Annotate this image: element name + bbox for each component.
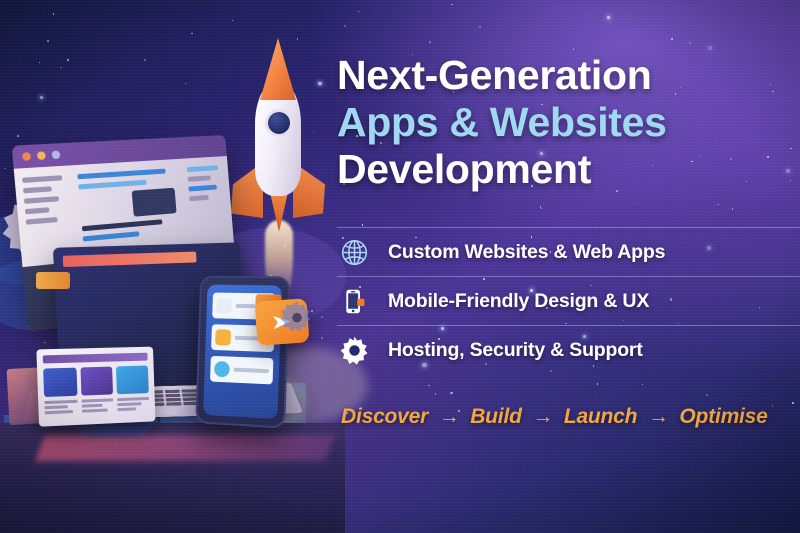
star-dot: [39, 62, 40, 63]
promo-banner: Next-Generation Apps & Websites Developm…: [0, 0, 800, 533]
star-dot: [185, 83, 186, 84]
star-dot: [4, 168, 5, 169]
browser-dot-blue: [51, 150, 60, 159]
feature-item-hosting-security[interactable]: Hosting, Security & Support: [337, 325, 800, 374]
feature-label: Mobile-Friendly Design & UX: [388, 290, 649, 313]
process-steps: Discover → Build → Launch → Optimise: [341, 405, 768, 429]
card-panels: [43, 365, 149, 397]
smartphone: [195, 276, 290, 429]
star-dot: [17, 135, 19, 137]
headline-line-1: Next-Generation: [337, 52, 800, 99]
globe-icon: [337, 238, 371, 267]
process-step-launch: Launch: [564, 405, 637, 428]
star-dot: [297, 38, 298, 39]
desk-surface: [0, 423, 345, 533]
orange-tag: [36, 272, 70, 289]
tablet-card: [36, 347, 155, 427]
feature-item-mobile-friendly[interactable]: Mobile-Friendly Design & UX: [337, 276, 800, 325]
star-dot: [321, 337, 323, 339]
mobile-phone-icon: [337, 287, 371, 316]
process-step-optimise: Optimise: [679, 405, 767, 428]
gear-icon: [280, 300, 314, 334]
keyboard-key: [182, 389, 198, 392]
star-dot: [144, 59, 145, 60]
star-dot: [47, 40, 49, 42]
code-header-bar: [63, 252, 197, 268]
banner-content: Next-Generation Apps & Websites Developm…: [337, 0, 800, 533]
feature-item-custom-websites[interactable]: Custom Websites & Web Apps: [337, 227, 800, 276]
arrow-icon: →: [643, 405, 674, 428]
arrow-icon: →: [527, 405, 558, 428]
feature-list: Custom Websites & Web Apps Mobile-Friend…: [337, 227, 800, 374]
browser-dot-yellow: [37, 151, 46, 160]
process-step-build: Build: [470, 405, 522, 428]
keyboard-key: [165, 398, 181, 402]
feature-label: Hosting, Security & Support: [388, 339, 643, 362]
keyboard-key: [166, 402, 182, 406]
rocket-icon: [225, 42, 335, 272]
star-dot: [191, 33, 193, 35]
arrow-icon: →: [434, 405, 465, 428]
browser-dot-red: [22, 152, 31, 161]
star-dot: [321, 316, 323, 318]
star-dot: [60, 67, 61, 68]
star-dot: [40, 96, 43, 99]
star-dot: [232, 20, 233, 21]
page-title: Next-Generation Apps & Websites Developm…: [337, 52, 800, 193]
keyboard-key: [165, 394, 181, 398]
feature-label: Custom Websites & Web Apps: [388, 241, 665, 264]
desk-glow: [35, 435, 334, 461]
process-step-discover: Discover: [341, 405, 428, 428]
keyboard-key: [165, 390, 181, 393]
star-dot: [44, 342, 45, 343]
rocket-nose-cone: [260, 38, 296, 100]
gear-icon: [337, 336, 371, 365]
headline-line-3: Development: [337, 146, 800, 193]
app-card: [210, 356, 273, 385]
rocket-porthole: [268, 112, 290, 134]
card-text-lines: [44, 397, 149, 414]
star-dot: [53, 13, 55, 15]
card-header: [43, 353, 148, 364]
headline-line-2: Apps & Websites: [337, 99, 800, 146]
star-dot: [67, 59, 69, 61]
